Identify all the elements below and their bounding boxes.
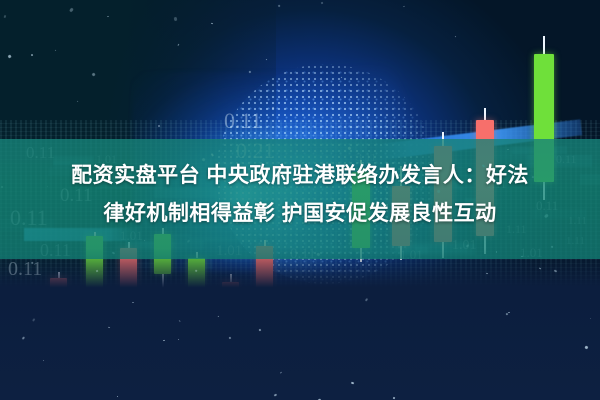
particle	[3, 15, 6, 18]
headline-line-2: 律好机制相得益彰 护国安促发展良性互动	[0, 195, 600, 233]
page-title: 配资实盘平台 中央政府驻港联络办发言人：好法 律好机制相得益彰 护国安促发展良性…	[0, 157, 600, 233]
particle	[31, 54, 33, 56]
background-bottom-fade	[0, 248, 600, 400]
banner-image: 0.111.010.110.111.010.110.110.110.213.11…	[0, 0, 600, 400]
particle	[163, 340, 165, 341]
headline-line-1: 配资实盘平台 中央政府驻港联络办发言人：好法	[0, 157, 600, 195]
